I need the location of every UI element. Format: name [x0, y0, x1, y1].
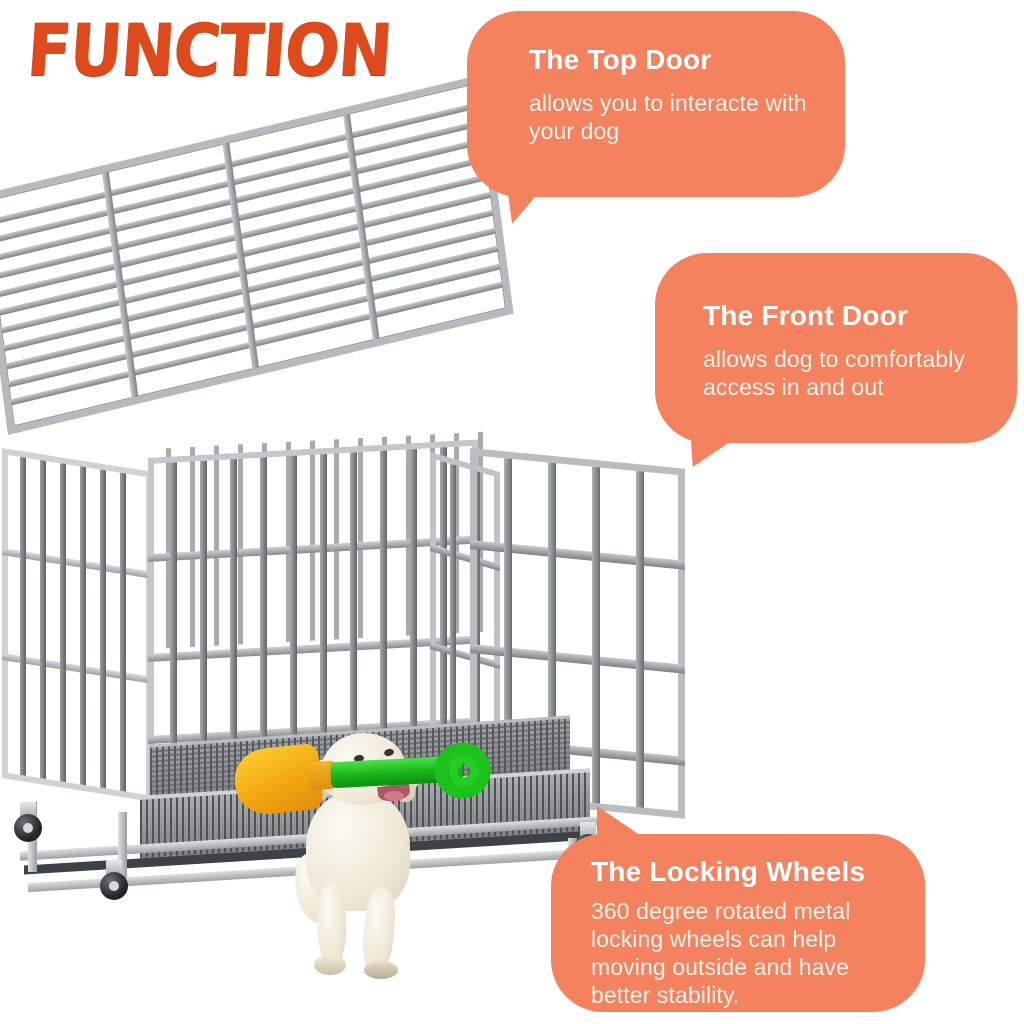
dog-paw [364, 961, 398, 979]
callout-heading: The Front Door [703, 300, 908, 332]
callout-body: allows dog to comfortably access in and … [703, 345, 1015, 401]
shovel-chew-toy [234, 733, 497, 832]
callout-heading: The Top Door [529, 44, 711, 76]
crate-body [0, 430, 700, 850]
callout-front-door: The Front Door allows dog to comfortably… [655, 253, 1017, 443]
dog-paw [314, 955, 346, 975]
infographic-canvas: FUNCTION [0, 0, 1024, 1024]
callout-top-door: The Top Door allows you to interacte wit… [467, 11, 845, 197]
callout-body: allows you to interacte with your dog [529, 89, 829, 145]
callout-heading: The Locking Wheels [591, 856, 865, 888]
page-title: FUNCTION [24, 10, 393, 93]
top-door-panel [0, 74, 514, 435]
crate-side-panel [2, 448, 152, 802]
callout-locking-wheels: The Locking Wheels 360 degree rotated me… [551, 834, 925, 1012]
callout-body: 360 degree rotated metal locking wheels … [591, 897, 909, 1009]
